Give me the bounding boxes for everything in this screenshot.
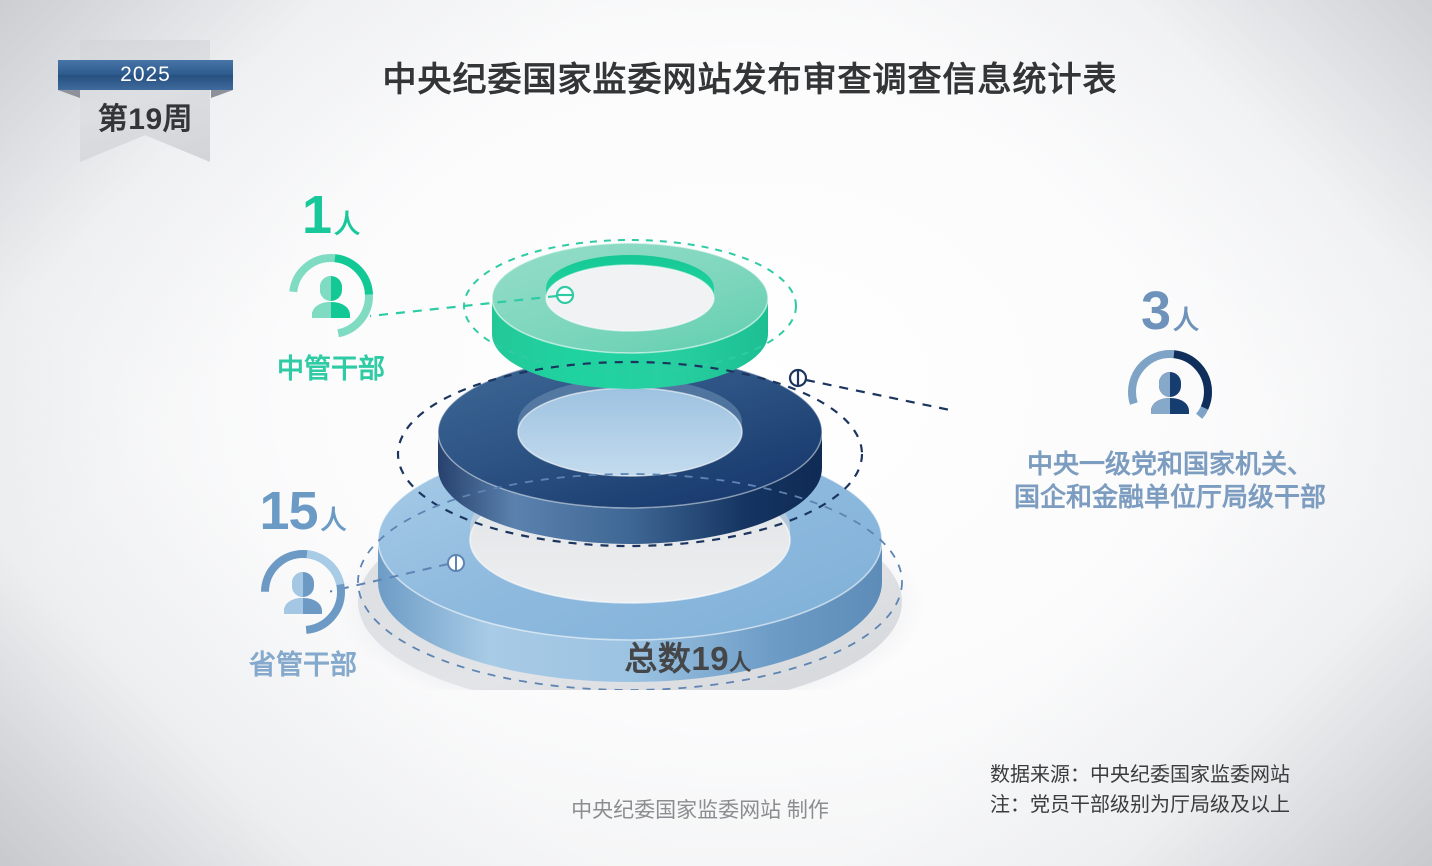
stat-label-line1: 中央一级党和国家机关、 xyxy=(930,448,1410,481)
person-donut-icon xyxy=(283,248,379,344)
page-title: 中央纪委国家监委网站发布审查调查信息统计表 xyxy=(300,52,1200,101)
node-green xyxy=(557,287,573,303)
total-prefix: 总数 xyxy=(624,640,691,677)
node-navy xyxy=(790,370,806,386)
person-donut-icon xyxy=(1122,344,1218,440)
stat-value: 1 xyxy=(302,188,331,242)
stat-unit: 人 xyxy=(1173,307,1199,333)
stat-central-agency: 3 人 中央一级党和国家机关、 国企和金融单位厅局级干部 xyxy=(930,284,1410,515)
ring-central-cadre xyxy=(492,243,768,389)
stat-value-row: 1 人 xyxy=(206,188,456,242)
stat-central-cadre: 1 人 中管干部 xyxy=(206,188,456,387)
stat-unit: 人 xyxy=(321,507,347,533)
rank-note: 注：党员干部级别为厅局级及以上 xyxy=(990,790,1410,820)
week-badge: 2025 第19周 xyxy=(58,36,233,166)
stat-label: 省管干部 xyxy=(178,648,428,683)
total-label: 总数19人 xyxy=(528,632,848,680)
stat-province-cadre: 15 人 省管干部 xyxy=(178,484,428,683)
badge-week: 第19周 xyxy=(58,94,233,138)
stat-value-row: 15 人 xyxy=(178,484,428,538)
stat-icon-holder xyxy=(178,544,428,640)
stat-value-row: 3 人 xyxy=(930,284,1410,338)
data-source-note: 数据来源：中央纪委国家监委网站 xyxy=(990,760,1410,790)
infographic-canvas: 2025 第19周 中央纪委国家监委网站发布审查调查信息统计表 xyxy=(0,0,1432,866)
stat-label: 中央一级党和国家机关、 国企和金融单位厅局级干部 xyxy=(930,448,1410,515)
footer-notes: 数据来源：中央纪委国家监委网站 注：党员干部级别为厅局级及以上 xyxy=(990,760,1410,820)
stat-label: 中管干部 xyxy=(206,352,456,387)
node-blue xyxy=(448,555,464,571)
person-donut-icon xyxy=(255,544,351,640)
producer-credit: 中央纪委国家监委网站 制作 xyxy=(460,794,940,824)
stat-value: 15 xyxy=(259,484,317,538)
connector-navy xyxy=(806,380,950,410)
badge-year: 2025 xyxy=(58,60,233,90)
total-unit: 人 xyxy=(729,650,752,675)
stat-value: 3 xyxy=(1141,284,1170,338)
stat-icon-holder xyxy=(206,248,456,344)
stat-icon-holder xyxy=(930,344,1410,440)
stat-label-line2: 国企和金融单位厅局级干部 xyxy=(930,481,1410,514)
stat-unit: 人 xyxy=(334,211,360,237)
total-value: 19 xyxy=(691,640,729,677)
